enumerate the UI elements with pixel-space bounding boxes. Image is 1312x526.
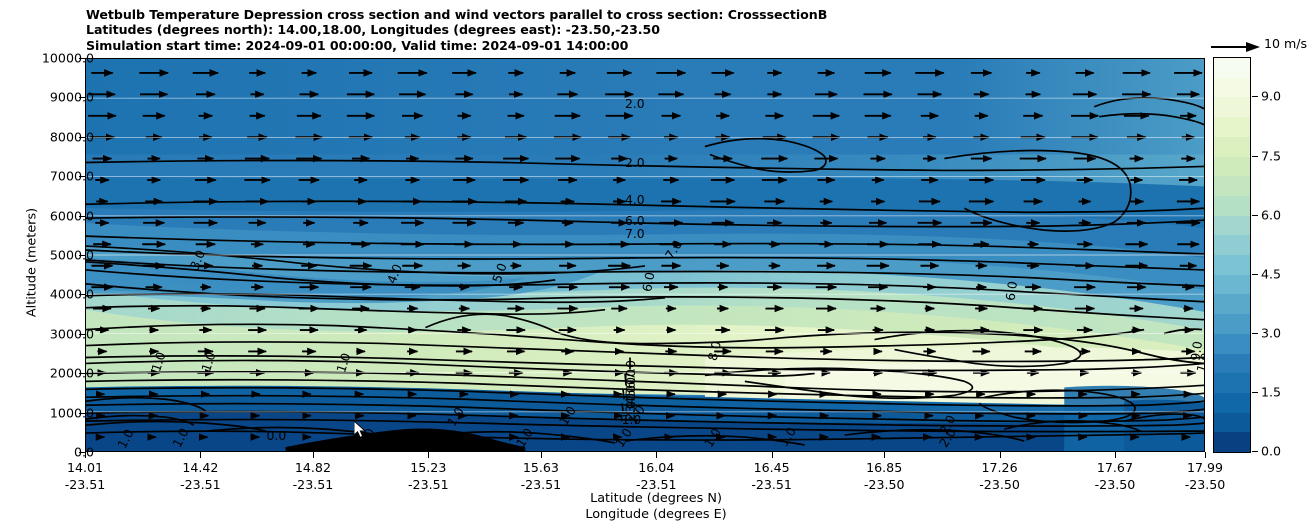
- colorbar-band: [1214, 294, 1250, 314]
- y-axis-tick-label: 10000.0: [42, 51, 94, 66]
- colorbar-band: [1214, 393, 1250, 413]
- colorbar-tick-mark: [1252, 156, 1258, 157]
- colorbar-band: [1214, 157, 1250, 177]
- x-axis-tick-group: 14.42-23.51: [180, 460, 221, 493]
- x-axis-latitude-label: 15.63: [521, 460, 562, 477]
- right-arrow-icon: [1210, 40, 1260, 54]
- figure-title: Wetbulb Temperature Depression cross sec…: [86, 7, 1086, 53]
- colorbar-band: [1214, 413, 1250, 433]
- x-axis-latitude-label: 15.23: [408, 460, 449, 477]
- colorbar-tick-mark: [1252, 451, 1258, 452]
- x-axis-tick-mark: [772, 452, 773, 458]
- colorbar-tick-label: 7.5: [1261, 148, 1281, 163]
- colorbar-tick-mark: [1252, 333, 1258, 334]
- x-axis-latitude-label: 17.67: [1095, 460, 1136, 477]
- x-axis-tick-group: 15.63-23.51: [521, 460, 562, 493]
- colorbar-tick-label: 9.0: [1261, 89, 1281, 104]
- x-axis-tick-mark: [884, 452, 885, 458]
- x-axis-tick-group: 15.23-23.51: [408, 460, 449, 493]
- y-axis-title: Altitude (meters): [25, 143, 40, 383]
- x-axis-tick-group: 17.67-23.50: [1095, 460, 1136, 493]
- y-axis-tick-label: 1000.0: [50, 405, 94, 420]
- colorbar-band: [1214, 275, 1250, 295]
- colorbar-band: [1214, 373, 1250, 393]
- title-line-1: Wetbulb Temperature Depression cross sec…: [86, 7, 1086, 22]
- colorbar-tick-label: 6.0: [1261, 207, 1281, 222]
- colorbar-tick-label: 3.0: [1261, 325, 1281, 340]
- x-axis-latitude-label: 16.85: [864, 460, 905, 477]
- y-axis-tick-label: 3000.0: [50, 326, 94, 341]
- x-axis-tick-group: 16.45-23.51: [751, 460, 792, 493]
- colorbar-band: [1214, 354, 1250, 374]
- x-axis-title-latitude: Latitude (degrees N): [0, 491, 1312, 506]
- y-axis-tick-label: 7000.0: [50, 169, 94, 184]
- x-axis-tick-group: 17.26-23.50: [979, 460, 1020, 493]
- x-axis-latitude-label: 16.04: [636, 460, 677, 477]
- x-axis-tick-group: 14.82-23.51: [293, 460, 334, 493]
- x-axis-tick-group: 17.99-23.50: [1185, 460, 1226, 493]
- y-axis-tick-label: 2000.0: [50, 366, 94, 381]
- colorbar-band: [1214, 176, 1250, 196]
- colorbar-band: [1214, 432, 1250, 452]
- colorbar-band: [1214, 334, 1250, 354]
- wind-vector-key: 10 m/s: [1210, 36, 1312, 58]
- colorbar-band: [1214, 216, 1250, 236]
- y-axis-tick-label: 6000.0: [50, 208, 94, 223]
- colorbar-band: [1214, 255, 1250, 275]
- x-axis-tick-mark: [428, 452, 429, 458]
- x-axis-tick-mark: [656, 452, 657, 458]
- colorbar-tick-mark: [1252, 215, 1258, 216]
- x-axis-tick-mark: [541, 452, 542, 458]
- x-axis-latitude-label: 14.01: [65, 460, 106, 477]
- colorbar-band: [1214, 196, 1250, 216]
- y-axis-tick-label: 5000.0: [50, 248, 94, 263]
- cross-section-figure: Wetbulb Temperature Depression cross sec…: [0, 0, 1312, 526]
- colorbar-band: [1214, 235, 1250, 255]
- y-axis-tick-label: 9000.0: [50, 90, 94, 105]
- plot-inner: 2.02.04.06.07.07.06.03.04.05.06.09.08.02…: [86, 59, 1204, 451]
- x-axis-tick-group: 14.01-23.51: [65, 460, 106, 493]
- colorbar-band: [1214, 78, 1250, 98]
- colorbar-tick-mark: [1252, 392, 1258, 393]
- x-axis-tick-mark: [1115, 452, 1116, 458]
- colorbar-tick-label: 1.5: [1261, 384, 1281, 399]
- title-line-3: Simulation start time: 2024-09-01 00:00:…: [86, 38, 1086, 53]
- colorbar-band: [1214, 97, 1250, 117]
- colorbar-tick-mark: [1252, 274, 1258, 275]
- y-axis-tick-label: 0.0: [74, 445, 94, 460]
- x-axis-tick-mark: [313, 452, 314, 458]
- colorbar-band: [1214, 137, 1250, 157]
- colorbar-tick-mark: [1252, 96, 1258, 97]
- x-axis-tick-mark: [1205, 452, 1206, 458]
- x-axis-latitude-label: 14.42: [180, 460, 221, 477]
- x-axis-tick-mark: [85, 452, 86, 458]
- colorbar-band: [1214, 58, 1250, 78]
- colorbar[interactable]: [1213, 57, 1251, 453]
- x-axis-tick-group: 16.04-23.51: [636, 460, 677, 493]
- colorbar-band: [1214, 117, 1250, 137]
- x-axis-title-longitude: Longitude (degrees E): [0, 507, 1312, 522]
- colorbar-tick-label: 4.5: [1261, 266, 1281, 281]
- x-axis-latitude-label: 14.82: [293, 460, 334, 477]
- x-axis-tick-group: 16.85-23.50: [864, 460, 905, 493]
- y-axis-tick-label: 8000.0: [50, 129, 94, 144]
- y-axis-tick-label: 4000.0: [50, 287, 94, 302]
- grid-lines: [86, 59, 1204, 451]
- plot-area[interactable]: 2.02.04.06.07.07.06.03.04.05.06.09.08.02…: [85, 58, 1205, 452]
- x-axis-latitude-label: 16.45: [751, 460, 792, 477]
- x-axis-tick-mark: [1000, 452, 1001, 458]
- x-axis-latitude-label: 17.99: [1185, 460, 1226, 477]
- title-line-2: Latitudes (degrees north): 14.00,18.00, …: [86, 22, 1086, 37]
- x-axis-latitude-label: 17.26: [979, 460, 1020, 477]
- colorbar-tick-label: 0.0: [1261, 444, 1281, 459]
- x-axis-tick-mark: [200, 452, 201, 458]
- colorbar-band: [1214, 314, 1250, 334]
- wind-key-label: 10 m/s: [1264, 36, 1307, 51]
